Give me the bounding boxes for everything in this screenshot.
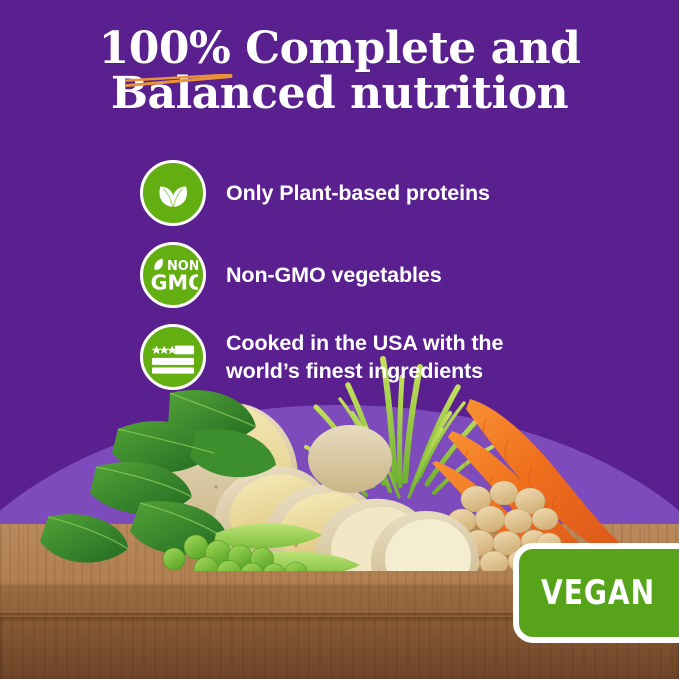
list-item: Cooked in the USA with the world’s fines… [140,322,639,392]
headline-highlight: 100% [99,23,231,74]
non-gmo-icon: NON GMO [140,242,206,308]
list-item-label: Cooked in the USA with the world’s fines… [226,329,556,386]
promotional-banner: 100% Complete and Balanced nutrition Onl… [0,0,679,679]
leaf-icon [140,160,206,226]
vegan-badge-label: VEGAN [541,573,655,613]
headline-underline-icon [125,74,233,88]
page-title: 100% Complete and Balanced nutrition [0,26,679,117]
non-gmo-glyph: NON GMO [148,253,198,297]
list-item: Only Plant-based proteins [140,158,639,228]
benefits-list: Only Plant-based proteins NON GMO Non-GM… [140,158,639,404]
usa-flag-glyph [152,340,194,374]
headline-line2: Balanced nutrition [0,71,679,116]
svg-text:GMO: GMO [151,271,198,295]
list-item-label: Only Plant-based proteins [226,179,490,207]
status-badge: VEGAN [513,543,679,643]
headline-line1-rest: Complete and [230,23,580,74]
list-item: NON GMO Non-GMO vegetables [140,240,639,310]
list-item-label: Non-GMO vegetables [226,261,442,289]
usa-flag-icon [140,324,206,390]
leaf-glyph [152,172,194,214]
